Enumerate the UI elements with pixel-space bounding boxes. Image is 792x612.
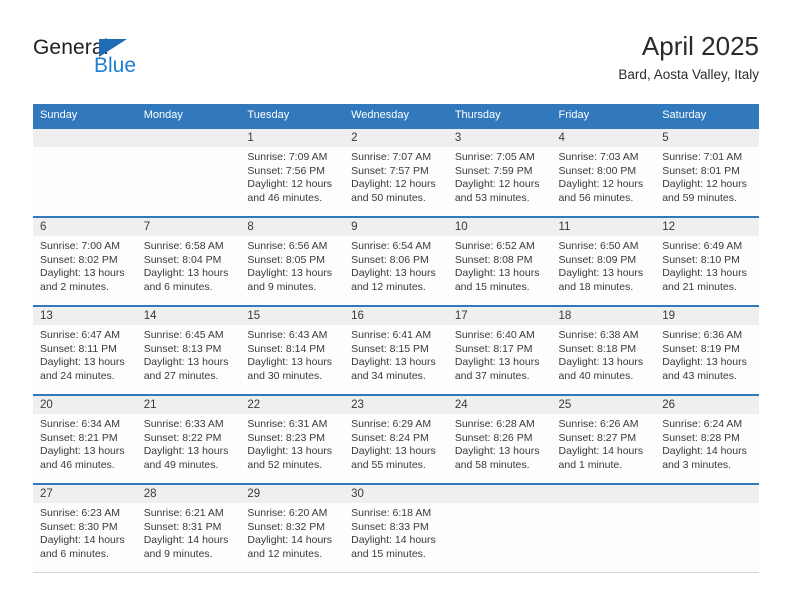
day-number: 26: [655, 396, 759, 414]
day-number: [655, 485, 759, 503]
day-cell-details: Sunrise: 6:47 AMSunset: 8:11 PMDaylight:…: [33, 325, 137, 383]
day-cell-details: Sunrise: 7:09 AMSunset: 7:56 PMDaylight:…: [240, 147, 344, 205]
day-number: 23: [344, 396, 448, 414]
calendar-day-cell[interactable]: 26Sunrise: 6:24 AMSunset: 8:28 PMDayligh…: [655, 395, 759, 484]
day-cell-details: Sunrise: 6:36 AMSunset: 8:19 PMDaylight:…: [655, 325, 759, 383]
calendar-day-cell[interactable]: 21Sunrise: 6:33 AMSunset: 8:22 PMDayligh…: [137, 395, 241, 484]
sunrise-text: Sunrise: 6:28 AM: [455, 418, 546, 432]
day-cell-inner: 21Sunrise: 6:33 AMSunset: 8:22 PMDayligh…: [137, 396, 241, 483]
sunset-text: Sunset: 8:04 PM: [144, 254, 235, 268]
day-cell-details: Sunrise: 6:58 AMSunset: 8:04 PMDaylight:…: [137, 236, 241, 294]
day-cell-inner: 17Sunrise: 6:40 AMSunset: 8:17 PMDayligh…: [448, 307, 552, 394]
sunset-text: Sunset: 8:08 PM: [455, 254, 546, 268]
sunrise-text: Sunrise: 6:36 AM: [662, 329, 753, 343]
daylight-text-line1: Daylight: 12 hours: [351, 178, 442, 192]
sunset-text: Sunset: 8:00 PM: [559, 165, 650, 179]
calendar-week-row: 1Sunrise: 7:09 AMSunset: 7:56 PMDaylight…: [33, 128, 759, 217]
day-cell-inner: 10Sunrise: 6:52 AMSunset: 8:08 PMDayligh…: [448, 218, 552, 305]
day-cell-inner: 5Sunrise: 7:01 AMSunset: 8:01 PMDaylight…: [655, 129, 759, 216]
calendar-day-cell[interactable]: 18Sunrise: 6:38 AMSunset: 8:18 PMDayligh…: [552, 306, 656, 395]
daylight-text-line2: and 2 minutes.: [40, 281, 131, 295]
daylight-text-line2: and 37 minutes.: [455, 370, 546, 384]
day-number: 22: [240, 396, 344, 414]
sunrise-text: Sunrise: 7:03 AM: [559, 151, 650, 165]
day-number: 30: [344, 485, 448, 503]
day-cell-details: Sunrise: 6:45 AMSunset: 8:13 PMDaylight:…: [137, 325, 241, 383]
daylight-text-line1: Daylight: 13 hours: [662, 356, 753, 370]
day-cell-details: Sunrise: 6:28 AMSunset: 8:26 PMDaylight:…: [448, 414, 552, 472]
daylight-text-line2: and 43 minutes.: [662, 370, 753, 384]
daylight-text-line2: and 50 minutes.: [351, 192, 442, 206]
day-cell-inner: [448, 485, 552, 572]
calendar-day-cell[interactable]: 6Sunrise: 7:00 AMSunset: 8:02 PMDaylight…: [33, 217, 137, 306]
daylight-text-line1: Daylight: 12 hours: [455, 178, 546, 192]
sunrise-text: Sunrise: 6:26 AM: [559, 418, 650, 432]
day-number: 7: [137, 218, 241, 236]
daylight-text-line2: and 6 minutes.: [40, 548, 131, 562]
calendar-week-row: 13Sunrise: 6:47 AMSunset: 8:11 PMDayligh…: [33, 306, 759, 395]
sunset-text: Sunset: 8:23 PM: [247, 432, 338, 446]
calendar-day-cell[interactable]: 5Sunrise: 7:01 AMSunset: 8:01 PMDaylight…: [655, 128, 759, 217]
day-cell-details: Sunrise: 6:31 AMSunset: 8:23 PMDaylight:…: [240, 414, 344, 472]
sunset-text: Sunset: 8:10 PM: [662, 254, 753, 268]
column-header-tuesday: Tuesday: [240, 104, 344, 128]
day-number: [448, 485, 552, 503]
daylight-text-line2: and 55 minutes.: [351, 459, 442, 473]
day-cell-details: Sunrise: 6:33 AMSunset: 8:22 PMDaylight:…: [137, 414, 241, 472]
sunrise-text: Sunrise: 7:01 AM: [662, 151, 753, 165]
sunset-text: Sunset: 8:28 PM: [662, 432, 753, 446]
day-cell-inner: 16Sunrise: 6:41 AMSunset: 8:15 PMDayligh…: [344, 307, 448, 394]
day-number: 17: [448, 307, 552, 325]
day-cell-details: Sunrise: 7:03 AMSunset: 8:00 PMDaylight:…: [552, 147, 656, 205]
daylight-text-line2: and 40 minutes.: [559, 370, 650, 384]
calendar-week-row: 27Sunrise: 6:23 AMSunset: 8:30 PMDayligh…: [33, 484, 759, 573]
sunset-text: Sunset: 8:13 PM: [144, 343, 235, 357]
day-cell-inner: 11Sunrise: 6:50 AMSunset: 8:09 PMDayligh…: [552, 218, 656, 305]
sunrise-text: Sunrise: 6:34 AM: [40, 418, 131, 432]
day-cell-inner: 9Sunrise: 6:54 AMSunset: 8:06 PMDaylight…: [344, 218, 448, 305]
sunset-text: Sunset: 7:59 PM: [455, 165, 546, 179]
day-number: 18: [552, 307, 656, 325]
sunset-text: Sunset: 8:06 PM: [351, 254, 442, 268]
calendar-day-cell[interactable]: 12Sunrise: 6:49 AMSunset: 8:10 PMDayligh…: [655, 217, 759, 306]
sunset-text: Sunset: 8:09 PM: [559, 254, 650, 268]
calendar-day-cell[interactable]: 14Sunrise: 6:45 AMSunset: 8:13 PMDayligh…: [137, 306, 241, 395]
calendar-day-cell[interactable]: 2Sunrise: 7:07 AMSunset: 7:57 PMDaylight…: [344, 128, 448, 217]
day-cell-inner: 15Sunrise: 6:43 AMSunset: 8:14 PMDayligh…: [240, 307, 344, 394]
daylight-text-line1: Daylight: 14 hours: [351, 534, 442, 548]
day-cell-details: Sunrise: 6:49 AMSunset: 8:10 PMDaylight:…: [655, 236, 759, 294]
day-number: [137, 129, 241, 147]
calendar-day-cell[interactable]: 17Sunrise: 6:40 AMSunset: 8:17 PMDayligh…: [448, 306, 552, 395]
calendar-day-cell[interactable]: 3Sunrise: 7:05 AMSunset: 7:59 PMDaylight…: [448, 128, 552, 217]
sunrise-text: Sunrise: 7:07 AM: [351, 151, 442, 165]
calendar-empty-cell: [137, 128, 241, 217]
sunrise-text: Sunrise: 6:52 AM: [455, 240, 546, 254]
sunset-text: Sunset: 8:05 PM: [247, 254, 338, 268]
sunrise-text: Sunrise: 6:24 AM: [662, 418, 753, 432]
logo-general-blue[interactable]: General Blue: [33, 36, 253, 88]
calendar-empty-cell: [33, 128, 137, 217]
sunrise-text: Sunrise: 6:56 AM: [247, 240, 338, 254]
daylight-text-line1: Daylight: 14 hours: [662, 445, 753, 459]
daylight-text-line1: Daylight: 13 hours: [144, 356, 235, 370]
daylight-text-line2: and 21 minutes.: [662, 281, 753, 295]
day-cell-inner: 24Sunrise: 6:28 AMSunset: 8:26 PMDayligh…: [448, 396, 552, 483]
day-number: 9: [344, 218, 448, 236]
sunrise-text: Sunrise: 6:18 AM: [351, 507, 442, 521]
calendar-day-cell[interactable]: 24Sunrise: 6:28 AMSunset: 8:26 PMDayligh…: [448, 395, 552, 484]
calendar-empty-cell: [448, 484, 552, 573]
daylight-text-line1: Daylight: 14 hours: [247, 534, 338, 548]
day-cell-inner: 3Sunrise: 7:05 AMSunset: 7:59 PMDaylight…: [448, 129, 552, 216]
day-cell-details: Sunrise: 6:26 AMSunset: 8:27 PMDaylight:…: [552, 414, 656, 472]
daylight-text-line1: Daylight: 13 hours: [144, 445, 235, 459]
title-block: April 2025 Bard, Aosta Valley, Italy: [618, 30, 759, 85]
day-number: 2: [344, 129, 448, 147]
sunrise-text: Sunrise: 7:05 AM: [455, 151, 546, 165]
column-header-sunday: Sunday: [33, 104, 137, 128]
day-cell-details: Sunrise: 7:05 AMSunset: 7:59 PMDaylight:…: [448, 147, 552, 205]
day-cell-inner: [33, 129, 137, 216]
sunrise-text: Sunrise: 6:31 AM: [247, 418, 338, 432]
day-cell-inner: 27Sunrise: 6:23 AMSunset: 8:30 PMDayligh…: [33, 485, 137, 572]
sunrise-text: Sunrise: 6:20 AM: [247, 507, 338, 521]
calendar-day-cell[interactable]: 25Sunrise: 6:26 AMSunset: 8:27 PMDayligh…: [552, 395, 656, 484]
calendar-day-cell[interactable]: 30Sunrise: 6:18 AMSunset: 8:33 PMDayligh…: [344, 484, 448, 573]
day-cell-details: Sunrise: 6:21 AMSunset: 8:31 PMDaylight:…: [137, 503, 241, 561]
day-cell-inner: 26Sunrise: 6:24 AMSunset: 8:28 PMDayligh…: [655, 396, 759, 483]
sunrise-text: Sunrise: 6:50 AM: [559, 240, 650, 254]
daylight-text-line2: and 46 minutes.: [247, 192, 338, 206]
calendar-day-cell[interactable]: 4Sunrise: 7:03 AMSunset: 8:00 PMDaylight…: [552, 128, 656, 217]
sunrise-text: Sunrise: 6:45 AM: [144, 329, 235, 343]
day-number: 24: [448, 396, 552, 414]
day-cell-details: Sunrise: 6:38 AMSunset: 8:18 PMDaylight:…: [552, 325, 656, 383]
calendar-day-cell[interactable]: 22Sunrise: 6:31 AMSunset: 8:23 PMDayligh…: [240, 395, 344, 484]
day-cell-details: Sunrise: 6:18 AMSunset: 8:33 PMDaylight:…: [344, 503, 448, 561]
sunset-text: Sunset: 8:19 PM: [662, 343, 753, 357]
calendar-grid: Sunday Monday Tuesday Wednesday Thursday…: [33, 104, 759, 573]
sunrise-text: Sunrise: 6:49 AM: [662, 240, 753, 254]
day-cell-inner: 6Sunrise: 7:00 AMSunset: 8:02 PMDaylight…: [33, 218, 137, 305]
column-header-wednesday: Wednesday: [344, 104, 448, 128]
day-number: 3: [448, 129, 552, 147]
day-number: 14: [137, 307, 241, 325]
day-cell-details: Sunrise: 6:43 AMSunset: 8:14 PMDaylight:…: [240, 325, 344, 383]
column-header-monday: Monday: [137, 104, 241, 128]
page-subtitle: Bard, Aosta Valley, Italy: [618, 65, 759, 85]
daylight-text-line2: and 18 minutes.: [559, 281, 650, 295]
daylight-text-line1: Daylight: 14 hours: [40, 534, 131, 548]
day-cell-inner: 1Sunrise: 7:09 AMSunset: 7:56 PMDaylight…: [240, 129, 344, 216]
sunset-text: Sunset: 8:26 PM: [455, 432, 546, 446]
daylight-text-line1: Daylight: 13 hours: [455, 445, 546, 459]
column-header-saturday: Saturday: [655, 104, 759, 128]
sunrise-text: Sunrise: 6:33 AM: [144, 418, 235, 432]
sunset-text: Sunset: 8:27 PM: [559, 432, 650, 446]
calendar-day-cell[interactable]: 23Sunrise: 6:29 AMSunset: 8:24 PMDayligh…: [344, 395, 448, 484]
calendar-day-cell[interactable]: 11Sunrise: 6:50 AMSunset: 8:09 PMDayligh…: [552, 217, 656, 306]
day-cell-inner: 14Sunrise: 6:45 AMSunset: 8:13 PMDayligh…: [137, 307, 241, 394]
daylight-text-line1: Daylight: 13 hours: [662, 267, 753, 281]
page-title: April 2025: [618, 30, 759, 62]
sunset-text: Sunset: 8:24 PM: [351, 432, 442, 446]
daylight-text-line2: and 1 minute.: [559, 459, 650, 473]
day-number: 16: [344, 307, 448, 325]
day-cell-inner: 22Sunrise: 6:31 AMSunset: 8:23 PMDayligh…: [240, 396, 344, 483]
daylight-text-line2: and 12 minutes.: [247, 548, 338, 562]
daylight-text-line1: Daylight: 13 hours: [559, 267, 650, 281]
day-cell-inner: 12Sunrise: 6:49 AMSunset: 8:10 PMDayligh…: [655, 218, 759, 305]
sunset-text: Sunset: 7:57 PM: [351, 165, 442, 179]
daylight-text-line2: and 52 minutes.: [247, 459, 338, 473]
daylight-text-line1: Daylight: 13 hours: [40, 267, 131, 281]
day-cell-inner: [137, 129, 241, 216]
day-cell-details: Sunrise: 6:40 AMSunset: 8:17 PMDaylight:…: [448, 325, 552, 383]
daylight-text-line2: and 6 minutes.: [144, 281, 235, 295]
daylight-text-line1: Daylight: 13 hours: [144, 267, 235, 281]
calendar-empty-cell: [552, 484, 656, 573]
day-number: 8: [240, 218, 344, 236]
day-cell-inner: 29Sunrise: 6:20 AMSunset: 8:32 PMDayligh…: [240, 485, 344, 572]
daylight-text-line1: Daylight: 13 hours: [247, 445, 338, 459]
calendar-day-cell[interactable]: 8Sunrise: 6:56 AMSunset: 8:05 PMDaylight…: [240, 217, 344, 306]
day-number: 1: [240, 129, 344, 147]
sunset-text: Sunset: 8:17 PM: [455, 343, 546, 357]
daylight-text-line2: and 24 minutes.: [40, 370, 131, 384]
daylight-text-line1: Daylight: 12 hours: [247, 178, 338, 192]
day-cell-inner: 2Sunrise: 7:07 AMSunset: 7:57 PMDaylight…: [344, 129, 448, 216]
day-number: [33, 129, 137, 147]
day-cell-details: Sunrise: 7:00 AMSunset: 8:02 PMDaylight:…: [33, 236, 137, 294]
daylight-text-line2: and 9 minutes.: [144, 548, 235, 562]
sunrise-text: Sunrise: 6:43 AM: [247, 329, 338, 343]
calendar-day-cell[interactable]: 7Sunrise: 6:58 AMSunset: 8:04 PMDaylight…: [137, 217, 241, 306]
sunset-text: Sunset: 8:32 PM: [247, 521, 338, 535]
sunset-text: Sunset: 8:11 PM: [40, 343, 131, 357]
sunset-text: Sunset: 7:56 PM: [247, 165, 338, 179]
day-number: 11: [552, 218, 656, 236]
day-cell-inner: 25Sunrise: 6:26 AMSunset: 8:27 PMDayligh…: [552, 396, 656, 483]
calendar-page: General Blue April 2025 Bard, Aosta Vall…: [0, 0, 792, 612]
daylight-text-line2: and 56 minutes.: [559, 192, 650, 206]
day-number: 20: [33, 396, 137, 414]
sunrise-text: Sunrise: 6:29 AM: [351, 418, 442, 432]
day-cell-inner: [552, 485, 656, 572]
day-number: 29: [240, 485, 344, 503]
daylight-text-line1: Daylight: 12 hours: [559, 178, 650, 192]
logo-text-blue: Blue: [94, 54, 136, 78]
daylight-text-line2: and 9 minutes.: [247, 281, 338, 295]
day-cell-inner: 23Sunrise: 6:29 AMSunset: 8:24 PMDayligh…: [344, 396, 448, 483]
daylight-text-line1: Daylight: 14 hours: [144, 534, 235, 548]
day-number: [552, 485, 656, 503]
column-header-friday: Friday: [552, 104, 656, 128]
daylight-text-line1: Daylight: 13 hours: [559, 356, 650, 370]
daylight-text-line1: Daylight: 14 hours: [559, 445, 650, 459]
day-cell-inner: [655, 485, 759, 572]
daylight-text-line2: and 12 minutes.: [351, 281, 442, 295]
daylight-text-line1: Daylight: 13 hours: [455, 267, 546, 281]
sunrise-text: Sunrise: 6:54 AM: [351, 240, 442, 254]
daylight-text-line2: and 58 minutes.: [455, 459, 546, 473]
calendar-day-cell[interactable]: 13Sunrise: 6:47 AMSunset: 8:11 PMDayligh…: [33, 306, 137, 395]
day-cell-details: Sunrise: 6:41 AMSunset: 8:15 PMDaylight:…: [344, 325, 448, 383]
sunset-text: Sunset: 8:15 PM: [351, 343, 442, 357]
day-cell-details: Sunrise: 7:01 AMSunset: 8:01 PMDaylight:…: [655, 147, 759, 205]
calendar-day-cell[interactable]: 1Sunrise: 7:09 AMSunset: 7:56 PMDaylight…: [240, 128, 344, 217]
sunset-text: Sunset: 8:01 PM: [662, 165, 753, 179]
day-cell-details: Sunrise: 6:24 AMSunset: 8:28 PMDaylight:…: [655, 414, 759, 472]
day-cell-details: Sunrise: 6:52 AMSunset: 8:08 PMDaylight:…: [448, 236, 552, 294]
daylight-text-line2: and 46 minutes.: [40, 459, 131, 473]
daylight-text-line2: and 15 minutes.: [455, 281, 546, 295]
sunset-text: Sunset: 8:33 PM: [351, 521, 442, 535]
calendar-day-cell[interactable]: 20Sunrise: 6:34 AMSunset: 8:21 PMDayligh…: [33, 395, 137, 484]
calendar-day-cell[interactable]: 28Sunrise: 6:21 AMSunset: 8:31 PMDayligh…: [137, 484, 241, 573]
sunrise-text: Sunrise: 6:58 AM: [144, 240, 235, 254]
daylight-text-line1: Daylight: 13 hours: [40, 445, 131, 459]
day-number: 28: [137, 485, 241, 503]
calendar-day-cell[interactable]: 15Sunrise: 6:43 AMSunset: 8:14 PMDayligh…: [240, 306, 344, 395]
day-number: 27: [33, 485, 137, 503]
day-number: 15: [240, 307, 344, 325]
sunrise-text: Sunrise: 7:00 AM: [40, 240, 131, 254]
sunrise-text: Sunrise: 6:23 AM: [40, 507, 131, 521]
sunset-text: Sunset: 8:30 PM: [40, 521, 131, 535]
daylight-text-line1: Daylight: 13 hours: [247, 267, 338, 281]
daylight-text-line2: and 49 minutes.: [144, 459, 235, 473]
day-cell-inner: 28Sunrise: 6:21 AMSunset: 8:31 PMDayligh…: [137, 485, 241, 572]
day-number: 4: [552, 129, 656, 147]
day-cell-details: Sunrise: 6:29 AMSunset: 8:24 PMDaylight:…: [344, 414, 448, 472]
calendar-empty-cell: [655, 484, 759, 573]
daylight-text-line2: and 53 minutes.: [455, 192, 546, 206]
calendar-body: 1Sunrise: 7:09 AMSunset: 7:56 PMDaylight…: [33, 128, 759, 573]
sunrise-text: Sunrise: 6:47 AM: [40, 329, 131, 343]
column-header-thursday: Thursday: [448, 104, 552, 128]
daylight-text-line2: and 30 minutes.: [247, 370, 338, 384]
calendar-week-row: 20Sunrise: 6:34 AMSunset: 8:21 PMDayligh…: [33, 395, 759, 484]
day-number: 5: [655, 129, 759, 147]
sunrise-text: Sunrise: 6:40 AM: [455, 329, 546, 343]
day-number: 13: [33, 307, 137, 325]
day-cell-inner: 4Sunrise: 7:03 AMSunset: 8:00 PMDaylight…: [552, 129, 656, 216]
day-number: 12: [655, 218, 759, 236]
daylight-text-line1: Daylight: 13 hours: [351, 267, 442, 281]
calendar-day-cell[interactable]: 19Sunrise: 6:36 AMSunset: 8:19 PMDayligh…: [655, 306, 759, 395]
daylight-text-line1: Daylight: 13 hours: [351, 445, 442, 459]
daylight-text-line2: and 34 minutes.: [351, 370, 442, 384]
day-cell-inner: 30Sunrise: 6:18 AMSunset: 8:33 PMDayligh…: [344, 485, 448, 572]
day-number: 25: [552, 396, 656, 414]
page-header: General Blue April 2025 Bard, Aosta Vall…: [33, 30, 759, 92]
calendar-day-cell[interactable]: 27Sunrise: 6:23 AMSunset: 8:30 PMDayligh…: [33, 484, 137, 573]
day-cell-inner: 18Sunrise: 6:38 AMSunset: 8:18 PMDayligh…: [552, 307, 656, 394]
sunset-text: Sunset: 8:21 PM: [40, 432, 131, 446]
day-cell-details: Sunrise: 6:34 AMSunset: 8:21 PMDaylight:…: [33, 414, 137, 472]
daylight-text-line2: and 27 minutes.: [144, 370, 235, 384]
sunrise-text: Sunrise: 6:38 AM: [559, 329, 650, 343]
calendar-day-cell[interactable]: 16Sunrise: 6:41 AMSunset: 8:15 PMDayligh…: [344, 306, 448, 395]
calendar-day-cell[interactable]: 9Sunrise: 6:54 AMSunset: 8:06 PMDaylight…: [344, 217, 448, 306]
day-cell-details: Sunrise: 6:23 AMSunset: 8:30 PMDaylight:…: [33, 503, 137, 561]
daylight-text-line1: Daylight: 13 hours: [247, 356, 338, 370]
sunset-text: Sunset: 8:22 PM: [144, 432, 235, 446]
daylight-text-line2: and 59 minutes.: [662, 192, 753, 206]
daylight-text-line2: and 3 minutes.: [662, 459, 753, 473]
day-number: 10: [448, 218, 552, 236]
daylight-text-line2: and 15 minutes.: [351, 548, 442, 562]
weekday-header-row: Sunday Monday Tuesday Wednesday Thursday…: [33, 104, 759, 128]
sunset-text: Sunset: 8:02 PM: [40, 254, 131, 268]
day-cell-details: Sunrise: 6:54 AMSunset: 8:06 PMDaylight:…: [344, 236, 448, 294]
calendar-day-cell[interactable]: 29Sunrise: 6:20 AMSunset: 8:32 PMDayligh…: [240, 484, 344, 573]
calendar-day-cell[interactable]: 10Sunrise: 6:52 AMSunset: 8:08 PMDayligh…: [448, 217, 552, 306]
day-number: 6: [33, 218, 137, 236]
sunset-text: Sunset: 8:18 PM: [559, 343, 650, 357]
sunrise-text: Sunrise: 7:09 AM: [247, 151, 338, 165]
sunset-text: Sunset: 8:31 PM: [144, 521, 235, 535]
day-number: 21: [137, 396, 241, 414]
calendar-week-row: 6Sunrise: 7:00 AMSunset: 8:02 PMDaylight…: [33, 217, 759, 306]
daylight-text-line1: Daylight: 13 hours: [40, 356, 131, 370]
day-cell-details: Sunrise: 6:50 AMSunset: 8:09 PMDaylight:…: [552, 236, 656, 294]
sunrise-text: Sunrise: 6:41 AM: [351, 329, 442, 343]
daylight-text-line1: Daylight: 13 hours: [351, 356, 442, 370]
day-cell-details: Sunrise: 6:56 AMSunset: 8:05 PMDaylight:…: [240, 236, 344, 294]
day-number: 19: [655, 307, 759, 325]
sunrise-text: Sunrise: 6:21 AM: [144, 507, 235, 521]
day-cell-inner: 7Sunrise: 6:58 AMSunset: 8:04 PMDaylight…: [137, 218, 241, 305]
daylight-text-line1: Daylight: 13 hours: [455, 356, 546, 370]
day-cell-inner: 20Sunrise: 6:34 AMSunset: 8:21 PMDayligh…: [33, 396, 137, 483]
sunset-text: Sunset: 8:14 PM: [247, 343, 338, 357]
daylight-text-line1: Daylight: 12 hours: [662, 178, 753, 192]
day-cell-details: Sunrise: 6:20 AMSunset: 8:32 PMDaylight:…: [240, 503, 344, 561]
day-cell-inner: 13Sunrise: 6:47 AMSunset: 8:11 PMDayligh…: [33, 307, 137, 394]
day-cell-details: Sunrise: 7:07 AMSunset: 7:57 PMDaylight:…: [344, 147, 448, 205]
day-cell-inner: 8Sunrise: 6:56 AMSunset: 8:05 PMDaylight…: [240, 218, 344, 305]
day-cell-inner: 19Sunrise: 6:36 AMSunset: 8:19 PMDayligh…: [655, 307, 759, 394]
